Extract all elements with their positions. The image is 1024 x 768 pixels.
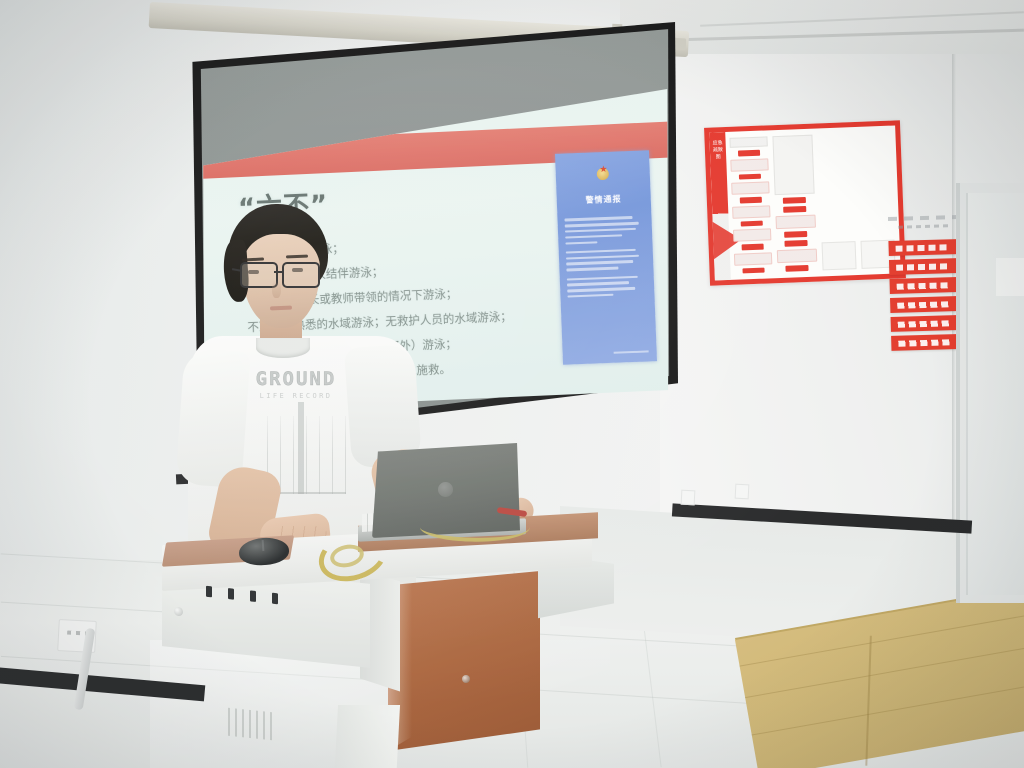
classroom-photo: ! “六不” 不准擅自下水游泳； 不准擅自与他人结伴游泳； 不准在无家长或教师带… <box>0 0 1024 768</box>
banner-heading-text <box>888 209 959 235</box>
notice-board-spine: 应急疏散图 <box>709 132 731 281</box>
shirt-collar <box>256 338 310 358</box>
laptop-logo-icon <box>438 482 453 497</box>
shirt-print-sub: LIFE RECORD <box>242 392 350 400</box>
red-banner <box>890 296 958 313</box>
shirt-print-main: GROUND <box>242 368 350 390</box>
lectern-cabinet-lock-icon[interactable] <box>462 675 470 683</box>
notice-board-content <box>729 132 895 274</box>
lectern-vent <box>228 708 272 741</box>
poster-body-text <box>565 216 647 301</box>
red-banner-strips <box>888 239 959 355</box>
nose <box>272 280 281 298</box>
shirt-tower-graphic <box>298 402 304 494</box>
classroom-door[interactable] <box>966 193 1024 595</box>
police-badge-icon: ★ <box>593 164 612 183</box>
wall-switch[interactable] <box>681 490 696 506</box>
shirt-print: GROUND LIFE RECORD <box>242 368 350 400</box>
board-column-1 <box>729 136 772 273</box>
notice-board-spine-label: 应急疏散图 <box>713 140 724 161</box>
police-notice-poster: ★ 警情通报 <box>555 150 657 364</box>
board-column-2 <box>772 135 817 272</box>
mouth <box>270 306 292 311</box>
red-banner <box>889 258 957 275</box>
poster-title: 警情通报 <box>557 192 651 207</box>
eyeglasses-icon <box>238 262 324 286</box>
red-banner <box>889 277 957 294</box>
red-banner <box>891 334 959 351</box>
poster-signature <box>613 350 649 354</box>
door-notice-paper <box>996 258 1024 296</box>
lectern-column <box>334 705 400 768</box>
lectern-lock-icon[interactable] <box>174 607 183 617</box>
red-banner <box>891 315 959 332</box>
wall-switch[interactable] <box>735 484 750 500</box>
red-banner <box>888 239 956 256</box>
wall-notice-board: 应急疏散图 <box>704 120 906 285</box>
board-column-3 <box>817 133 856 270</box>
